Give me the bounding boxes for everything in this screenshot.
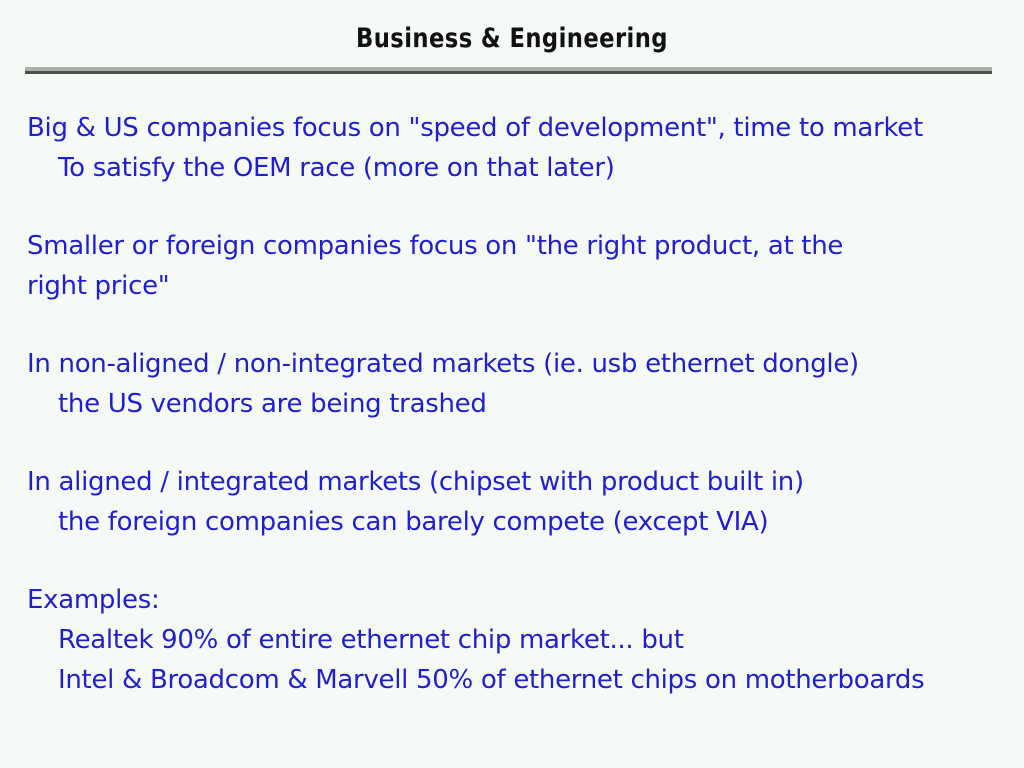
bullet-line: In aligned / integrated markets (chipset…: [0, 462, 1024, 502]
bullet-paragraph: Smaller or foreign companies focus on "t…: [0, 226, 1024, 306]
slide-title: Business & Engineering: [82, 24, 942, 54]
divider-shadow-line: [25, 71, 992, 74]
bullet-subline: the US vendors are being trashed: [0, 384, 1024, 424]
bullet-subline: the foreign companies can barely compete…: [0, 502, 1024, 542]
bullet-line: right price": [0, 266, 1024, 306]
bullet-subline: Realtek 90% of entire ethernet chip mark…: [0, 620, 1024, 660]
presentation-slide: Business & Engineering Big & US companie…: [0, 0, 1024, 768]
bullet-line: Examples:: [0, 580, 1024, 620]
slide-body: Big & US companies focus on "speed of de…: [0, 108, 1024, 700]
bullet-line: In non-aligned / non-integrated markets …: [0, 344, 1024, 384]
bullet-paragraph: In non-aligned / non-integrated markets …: [0, 344, 1024, 424]
title-divider: [25, 67, 992, 74]
bullet-subline: Intel & Broadcom & Marvell 50% of ethern…: [0, 660, 1024, 700]
bullet-line: Big & US companies focus on "speed of de…: [0, 108, 1024, 148]
bullet-paragraph: In aligned / integrated markets (chipset…: [0, 462, 1024, 542]
bullet-paragraph: Big & US companies focus on "speed of de…: [0, 108, 1024, 188]
bullet-subline: To satisfy the OEM race (more on that la…: [0, 148, 1024, 188]
slide-title-bar: Business & Engineering: [0, 0, 1024, 76]
bullet-paragraph: Examples:Realtek 90% of entire ethernet …: [0, 580, 1024, 700]
bullet-line: Smaller or foreign companies focus on "t…: [0, 226, 1024, 266]
